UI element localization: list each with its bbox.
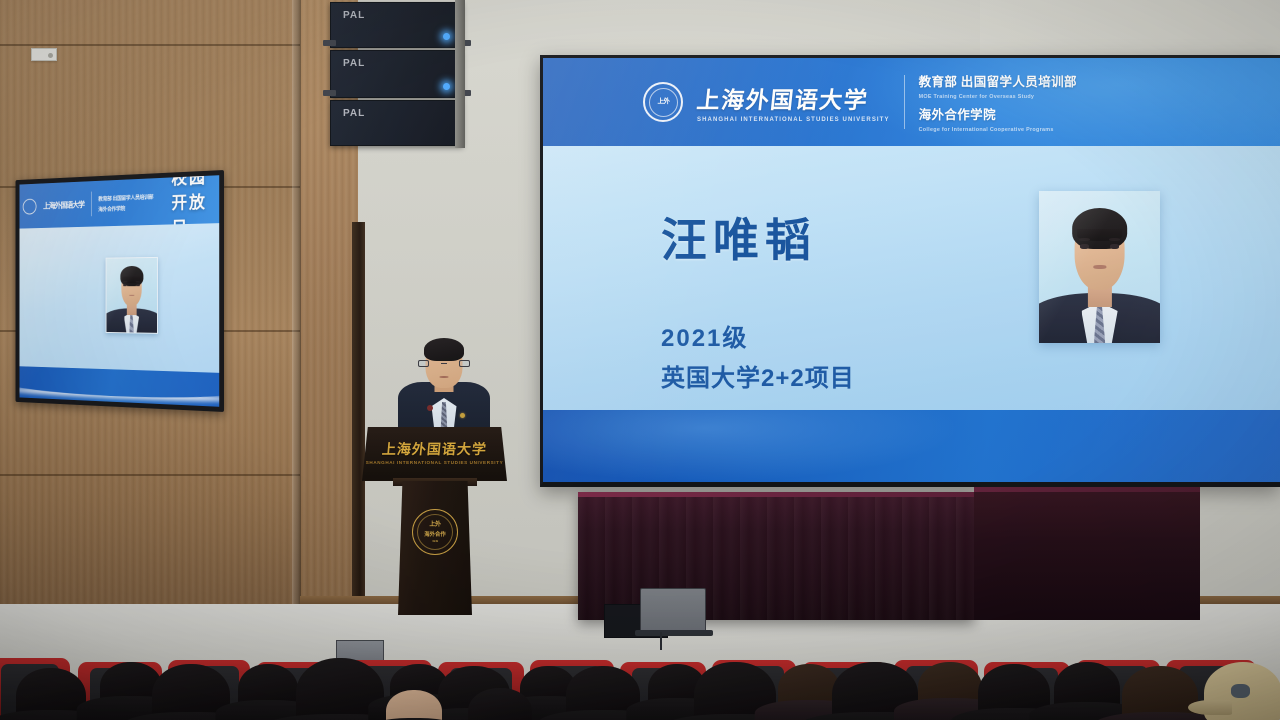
line-array-speaker-stack: PAL PAL PAL	[330, 0, 470, 150]
podium-university-name-en: SHANGHAI INTERNATIONAL STUDIES UNIVERSIT…	[362, 460, 507, 465]
emblem-mid-text: 海外合作	[424, 530, 446, 538]
audience-member	[16, 668, 86, 720]
audience-member-with-cap	[1204, 662, 1280, 720]
side-slide-footer	[20, 366, 220, 407]
audience-member	[1054, 662, 1120, 718]
lapel-microphone-icon	[427, 405, 433, 411]
department-name-cn-1: 教育部 出国留学人员培训部	[919, 71, 1077, 90]
podium-body: 上外 海外合作 1949	[398, 481, 472, 615]
university-name-en: SHANGHAI INTERNATIONAL STUDIES UNIVERSIT…	[697, 117, 890, 123]
student-portrait-photo	[1039, 191, 1160, 343]
university-emblem-icon: 上外 海外合作 1949	[412, 509, 458, 555]
power-led-icon	[443, 83, 450, 90]
slide-header-banner: 上外 上海外国语大学 SHANGHAI INTERNATIONAL STUDIE…	[543, 58, 1280, 146]
university-name-cn: 上海外国语大学	[695, 81, 891, 115]
cap-logo-icon	[1231, 684, 1250, 698]
podium-university-name-cn: 上海外国语大学	[361, 439, 508, 459]
student-name: 汪唯韬	[661, 204, 817, 270]
speaker-rigging-rail	[455, 0, 465, 148]
decorative-swoosh	[543, 434, 1280, 482]
pa-speaker-unit: PAL	[330, 2, 463, 48]
side-slide-header: 上海外国语大学 教育部 出国留学人员培训部 海外合作学院 校园开放日	[20, 175, 220, 228]
audience-member	[238, 664, 298, 716]
slide-footer-band	[543, 410, 1280, 482]
wood-seam	[0, 474, 300, 476]
pa-brand-label: PAL	[343, 58, 365, 69]
wood-seam	[0, 44, 300, 46]
side-slide-body	[20, 223, 220, 373]
rigging-bracket	[323, 90, 336, 96]
side-student-photo	[106, 257, 158, 334]
student-program: 英国大学2+2项目	[661, 358, 855, 393]
eyeglasses-icon	[459, 360, 470, 367]
wall-outlet-plate	[31, 48, 57, 61]
pa-brand-label: PAL	[343, 108, 365, 119]
auditorium-scene: PAL PAL PAL 上海外国语大学 教育部 出国留学人员培训部 海外合作学院	[0, 0, 1280, 720]
wood-column-edge	[292, 0, 301, 640]
university-seal-icon	[23, 198, 37, 214]
vertical-divider	[904, 75, 905, 129]
main-projection-screen: 上外 上海外国语大学 SHANGHAI INTERNATIONAL STUDIE…	[540, 55, 1280, 487]
seal-text: 上外	[657, 99, 669, 106]
audience-seating-area	[0, 600, 1280, 720]
eyeglasses-icon	[418, 360, 429, 367]
slide-content-area: 汪唯韬 2021级 英国大学2+2项目	[543, 146, 1280, 410]
department-name-en-1: MOE Training Center for Overseas Study	[919, 94, 1077, 100]
side-display-screen: 上海外国语大学 教育部 出国留学人员培训部 海外合作学院 校园开放日	[15, 170, 224, 412]
presentation-slide: 上外 上海外国语大学 SHANGHAI INTERNATIONAL STUDIE…	[543, 58, 1280, 482]
emblem-top-text: 上外	[429, 522, 440, 529]
audience-member	[1122, 666, 1198, 720]
branding-lockup: 上外 上海外国语大学 SHANGHAI INTERNATIONAL STUDIE…	[643, 58, 1077, 146]
pa-speaker-unit: PAL	[330, 50, 463, 98]
audience-member	[778, 664, 840, 716]
rigging-bracket	[323, 40, 336, 46]
pa-speaker-unit: PAL	[330, 100, 463, 146]
side-department-line2: 海外合作学院	[98, 203, 153, 213]
podium-nameplate: 上海外国语大学 SHANGHAI INTERNATIONAL STUDIES U…	[362, 427, 507, 481]
pa-brand-label: PAL	[343, 10, 365, 21]
wall-recess-gap	[352, 222, 365, 612]
power-led-icon	[443, 33, 450, 40]
department-name-cn-2: 海外合作学院	[919, 104, 1077, 123]
side-department-line1: 教育部 出国留学人员培训部	[98, 192, 153, 202]
audience-member	[918, 662, 982, 714]
student-cohort: 2021级	[661, 318, 748, 353]
side-university-name: 上海外国语大学	[43, 199, 84, 211]
university-seal-icon: 上外	[643, 82, 683, 122]
lapel-pin-icon	[460, 413, 465, 418]
emblem-year: 1949	[432, 539, 438, 543]
department-name-en-2: College for International Cooperative Pr…	[919, 127, 1077, 133]
